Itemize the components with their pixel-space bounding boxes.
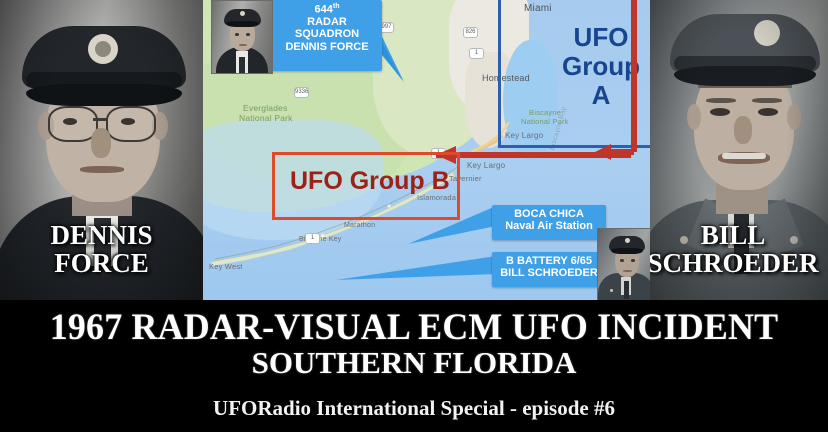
callout-boca-chica: BOCA CHICA Naval Air Station bbox=[492, 205, 606, 240]
inset-photo-bill-schroeder bbox=[597, 228, 655, 302]
portrait-left-name: DENNIS FORCE bbox=[0, 222, 203, 277]
portrait-left-name-line2: FORCE bbox=[0, 250, 203, 278]
portrait-dennis-force: DENNIS FORCE bbox=[0, 0, 203, 300]
b-battery-pointer bbox=[330, 240, 510, 290]
inset2-eye-right bbox=[631, 259, 635, 262]
callout-boca-chica-line1: BOCA CHICA bbox=[492, 208, 606, 220]
inset2-button bbox=[610, 289, 613, 292]
callout-radar-superscript: th bbox=[333, 3, 340, 10]
portrait-right-name-line2: SCHROEDER bbox=[650, 250, 828, 278]
callout-radar-squadron: 644th RADAR SQUADRON DENNIS FORCE bbox=[272, 0, 382, 71]
inset-eye-right bbox=[246, 33, 250, 36]
episode-subtitle: UFORadio International Special - episode… bbox=[0, 396, 828, 421]
callout-radar-line4: DENNIS FORCE bbox=[272, 41, 382, 53]
portrait-right-name: BILL SCHROEDER bbox=[650, 222, 828, 277]
main-title-line2: SOUTHERN FLORIDA bbox=[0, 345, 828, 381]
inset2-mouth bbox=[623, 270, 632, 272]
title-band: 1967 RADAR-VISUAL ECM UFO INCIDENT SOUTH… bbox=[0, 300, 828, 432]
portrait-left-name-line1: DENNIS bbox=[0, 222, 203, 250]
inset2-tie bbox=[624, 281, 629, 299]
callout-radar-line3: SQUADRON bbox=[272, 28, 382, 40]
portrait-right-name-line1: BILL bbox=[650, 222, 828, 250]
callout-radar-line1: 644th bbox=[272, 3, 382, 16]
inset-mouth bbox=[239, 44, 247, 46]
callout-radar-line2: RADAR bbox=[272, 16, 382, 28]
main-title-line1: 1967 RADAR-VISUAL ECM UFO INCIDENT bbox=[12, 306, 815, 349]
inset-tie bbox=[239, 57, 245, 74]
inset2-eye-left bbox=[620, 259, 624, 262]
inset-eye-left bbox=[235, 33, 239, 36]
callout-boca-chica-line2: Naval Air Station bbox=[492, 220, 606, 232]
inset-cap-visor bbox=[226, 21, 259, 27]
portrait-bill-schroeder: BILL SCHROEDER bbox=[650, 0, 828, 300]
inset2-cap-emblem bbox=[625, 238, 630, 243]
inset2-cap-visor bbox=[611, 248, 643, 254]
callout-b-battery: B BATTERY 6/65 BILL SCHROEDER bbox=[492, 252, 606, 287]
callout-b-battery-line1: B BATTERY 6/65 bbox=[492, 255, 606, 267]
inset-cap-emblem bbox=[240, 11, 245, 16]
thumbnail-root: Miami Homestead Everglades National Park… bbox=[0, 0, 828, 432]
inset-photo-dennis-force bbox=[211, 0, 273, 74]
callout-b-battery-line2: BILL SCHROEDER bbox=[492, 267, 606, 279]
